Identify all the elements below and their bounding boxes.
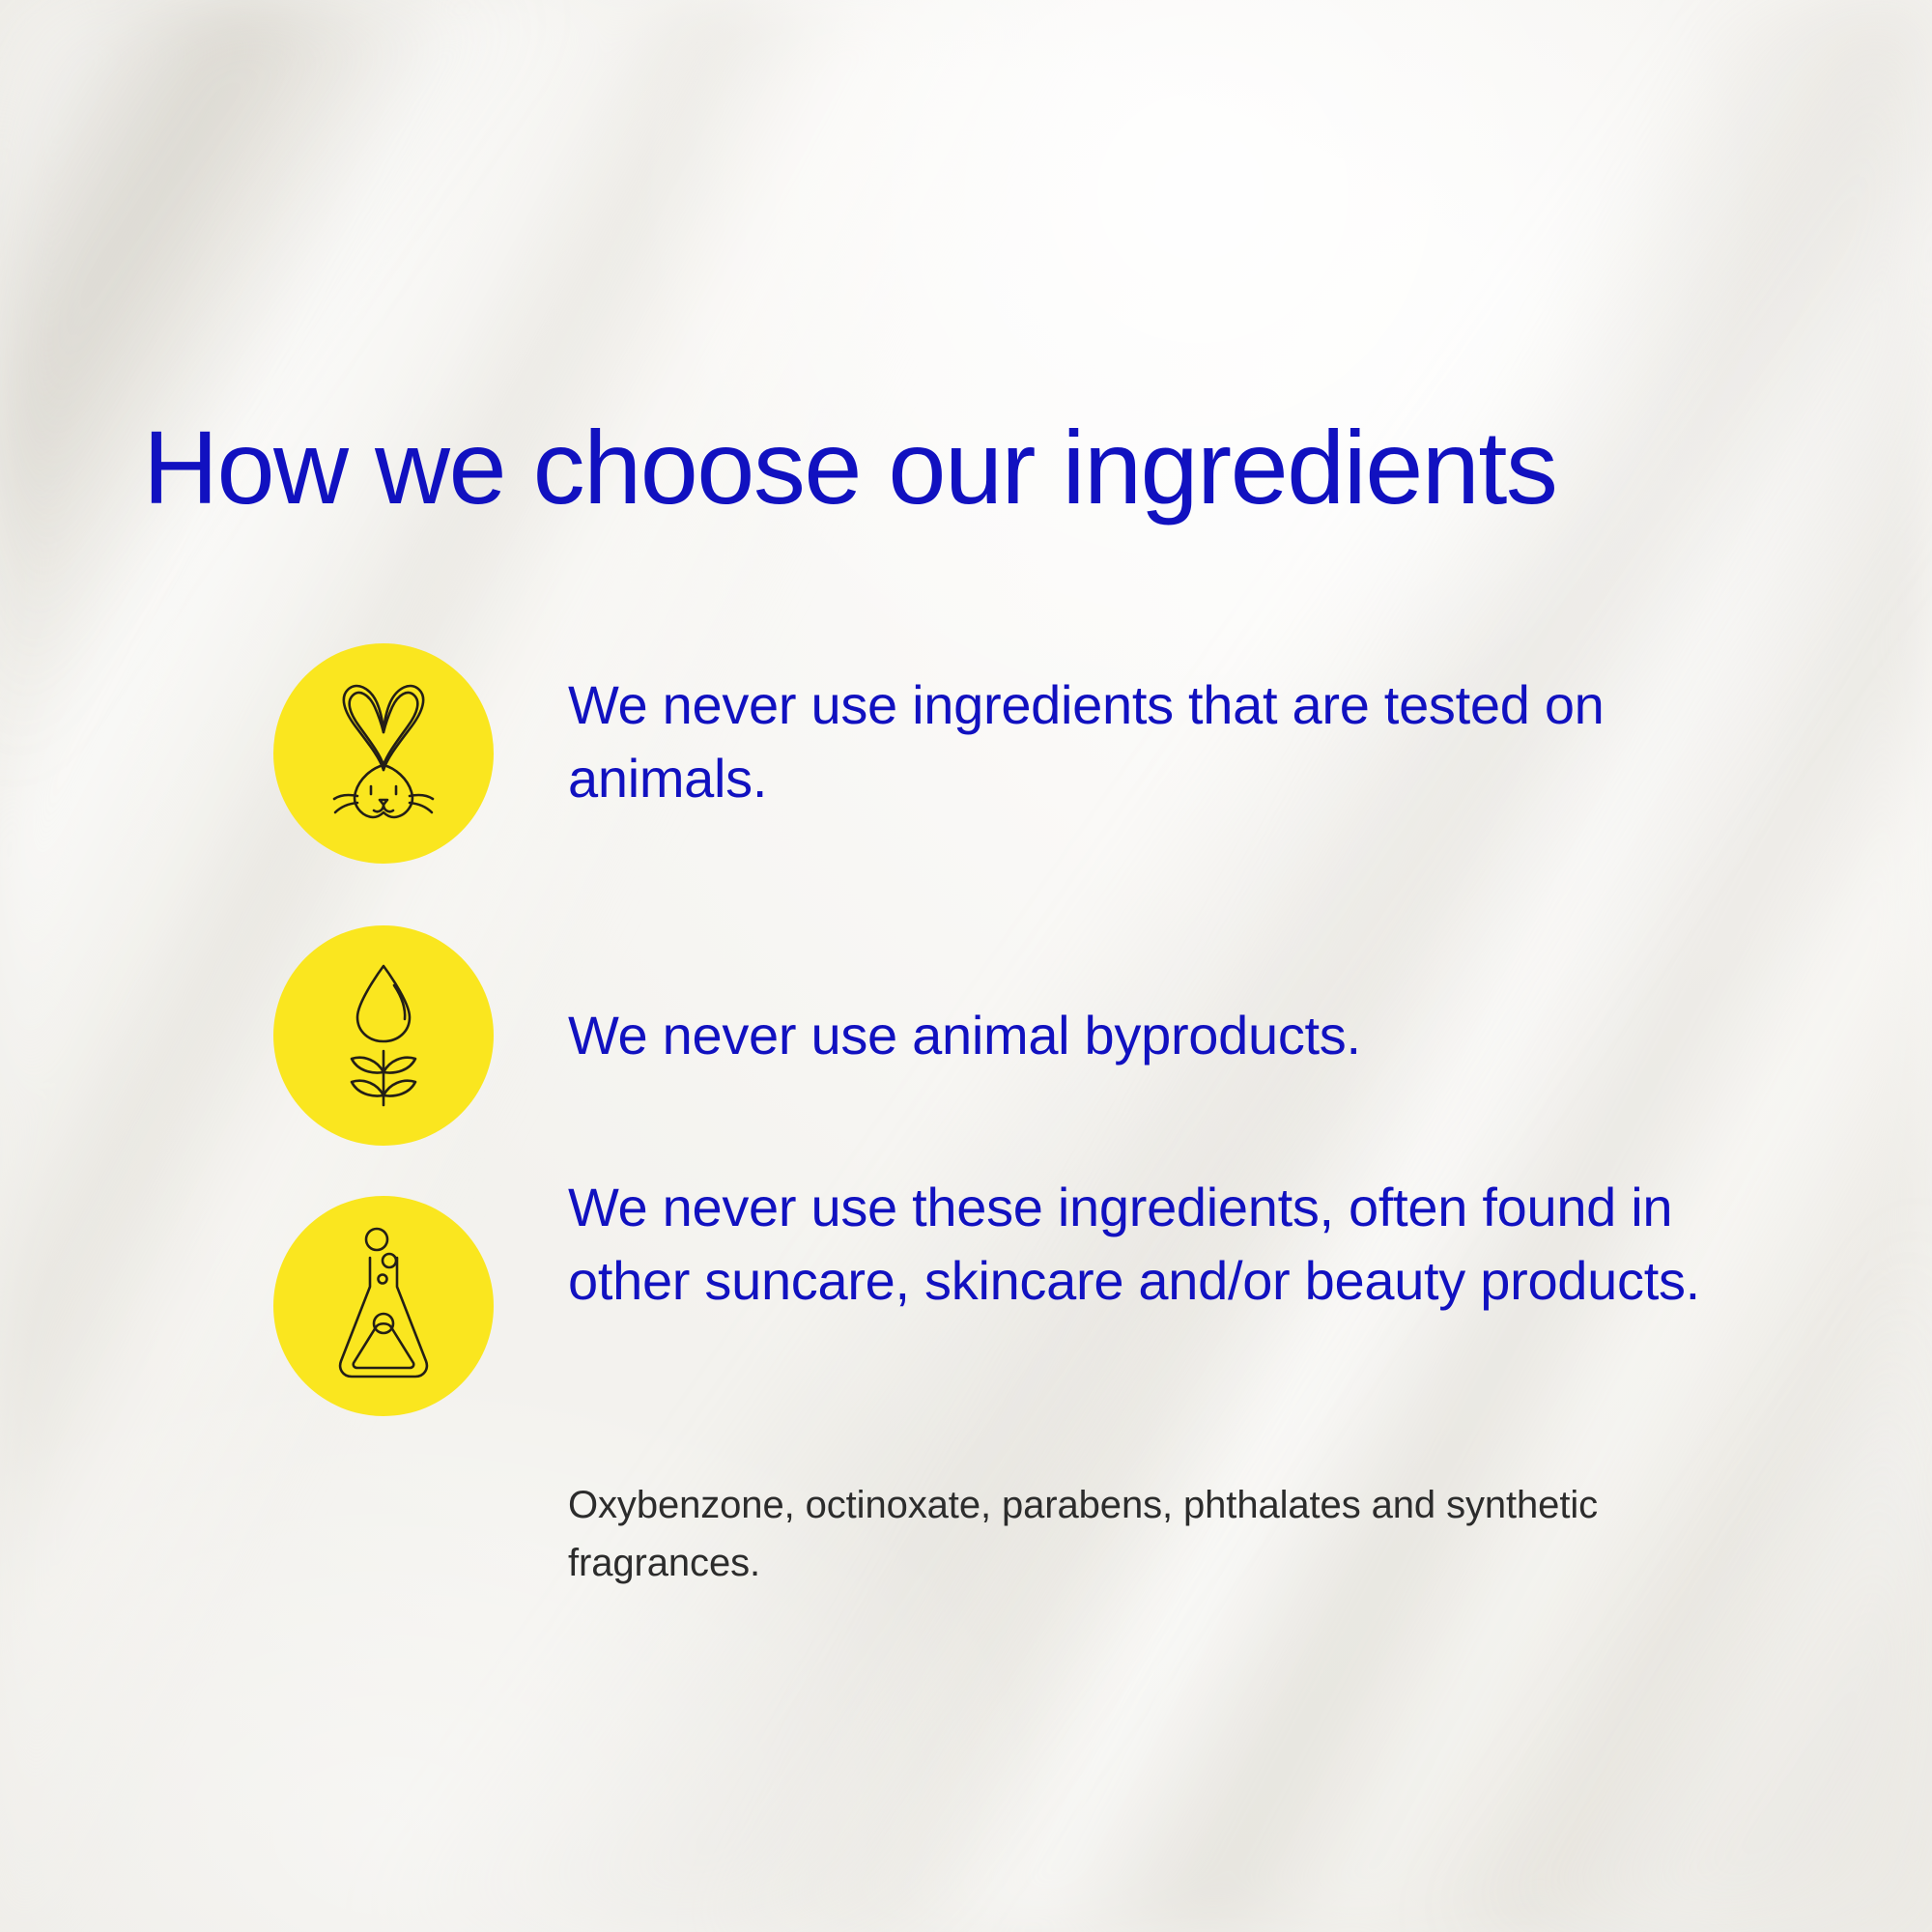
plant-droplet-icon xyxy=(273,925,494,1146)
excluded-ingredients-caption: Oxybenzone, octinoxate, parabens, phthal… xyxy=(568,1476,1650,1592)
background-silk-folds xyxy=(0,0,1932,1932)
flask-bubbles-icon xyxy=(273,1196,494,1416)
list-item-label: We never use animal byproducts. xyxy=(568,999,1785,1072)
bunny-heart-ears-icon xyxy=(273,643,494,864)
list-item-label: We never use ingredients that are tested… xyxy=(568,668,1785,815)
background-silk-folds-secondary xyxy=(0,0,1932,1932)
ingredient-principles-poster: How we choose our ingredients xyxy=(0,0,1932,1932)
background-highlight xyxy=(0,0,1932,1932)
page-title: How we choose our ingredients xyxy=(143,415,1556,520)
background-base xyxy=(0,0,1932,1932)
list-item-label: We never use these ingredients, often fo… xyxy=(568,1171,1785,1318)
background-vignette xyxy=(0,0,1932,1932)
